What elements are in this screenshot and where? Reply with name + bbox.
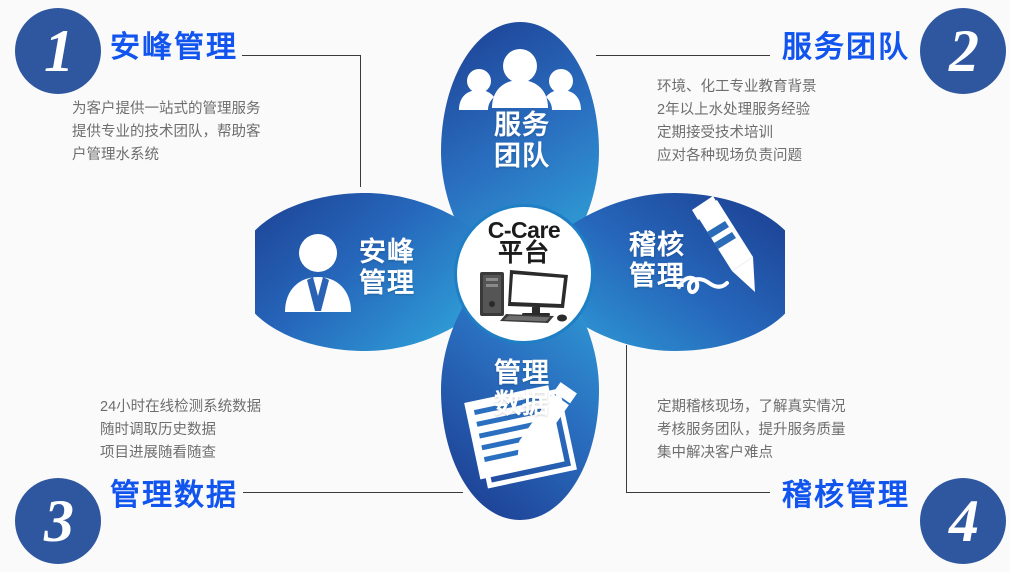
body-line: 项目进展随看随查	[100, 442, 261, 465]
hub-subtitle: 平台	[498, 241, 550, 265]
section-title-4: 稽核管理	[782, 470, 910, 514]
number-badge-2: 2	[920, 8, 1006, 94]
number-badge-1: 1	[15, 8, 101, 94]
section-title-2: 服务团队	[782, 22, 910, 66]
hub-title: C-Care	[488, 219, 560, 241]
body-line: 24小时在线检测系统数据	[100, 396, 261, 419]
desktop-computer-icon	[476, 266, 572, 329]
section-body-3: 24小时在线检测系统数据 随时调取历史数据 项目进展随看随查	[100, 396, 261, 465]
number-badge-4: 4	[920, 478, 1006, 564]
body-line: 提供专业的技术团队，帮助客	[72, 121, 261, 144]
center-hub[interactable]: C-Care 平台	[457, 207, 591, 341]
body-line: 随时调取历史数据	[100, 419, 261, 442]
section-title-1: 安峰管理	[110, 22, 238, 66]
section-body-1: 为客户提供一站式的管理服务 提供专业的技术团队，帮助客 户管理水系统	[72, 98, 261, 167]
body-line: 为客户提供一站式的管理服务	[72, 98, 261, 121]
section-title-3: 管理数据	[110, 470, 238, 514]
body-line: 户管理水系统	[72, 144, 261, 167]
infographic-canvas: 1 2 3 4 安峰管理 服务团队 管理数据 稽核管理 为客户提供一站式的管理服…	[0, 0, 1010, 572]
number-badge-3: 3	[15, 478, 101, 564]
